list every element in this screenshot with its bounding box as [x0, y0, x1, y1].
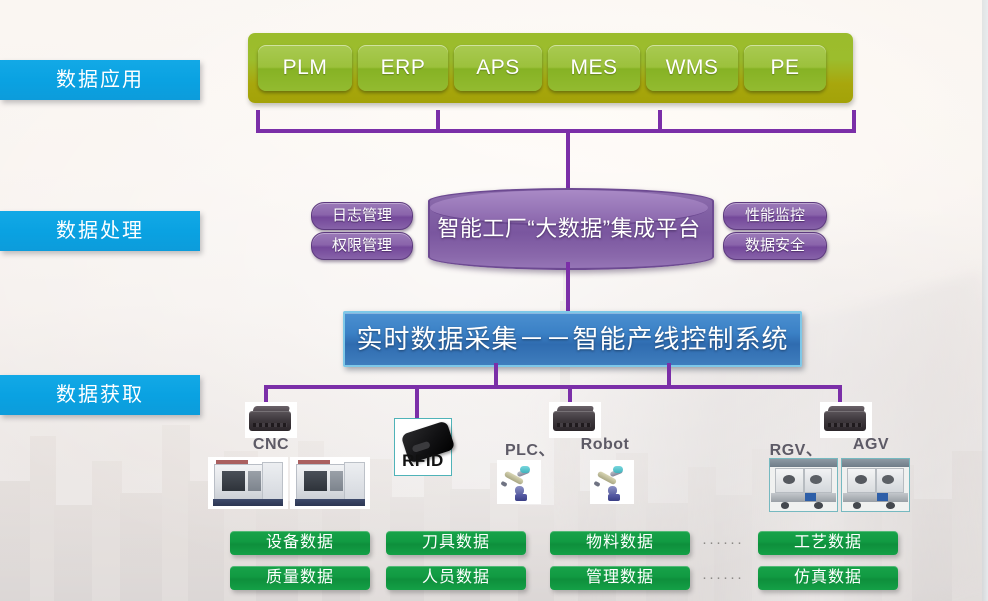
- connector-up-3: [658, 110, 662, 132]
- app-box-label: MES: [570, 56, 617, 79]
- cnc-machine-thumbnail-2: [290, 457, 370, 509]
- data-box-label: 物料数据: [586, 534, 654, 551]
- app-box-label: APS: [476, 56, 520, 79]
- data-box-label: 仿真数据: [794, 569, 862, 586]
- stage-label-data-processing[interactable]: 数据处理: [0, 211, 200, 251]
- data-box-label: 刀具数据: [422, 534, 490, 551]
- app-box-wms[interactable]: WMS: [646, 45, 738, 91]
- data-box-simulation[interactable]: 仿真数据: [758, 566, 898, 590]
- ellipsis-row-1: ······: [696, 531, 750, 555]
- stage-label-data-acquisition[interactable]: 数据获取: [0, 375, 200, 415]
- data-box-tooling[interactable]: 刀具数据: [386, 531, 526, 555]
- cnc-controller-thumbnail: [245, 402, 297, 438]
- device-label-plc: PLC、: [495, 436, 565, 460]
- device-label-rgv: RGV、: [761, 436, 831, 460]
- data-box-label: 设备数据: [266, 534, 334, 551]
- robot-arm-thumbnail-1: [497, 460, 541, 504]
- right-edge-shadow: [982, 0, 988, 601]
- connector-up-2: [436, 110, 440, 132]
- data-box-label: 人员数据: [422, 569, 490, 586]
- data-box-management[interactable]: 管理数据: [550, 566, 690, 590]
- cnc-machine-thumbnail-1: [208, 457, 288, 509]
- device-label-rfid: RFID: [395, 451, 451, 471]
- agv-thumbnail-1: [769, 458, 838, 512]
- app-box-erp[interactable]: ERP: [358, 45, 448, 91]
- platform-title: 智能工厂“大数据”集成平台: [428, 214, 710, 243]
- device-label-robot: Robot: [570, 436, 640, 454]
- control-system-bar[interactable]: 实时数据采集－－智能产线控制系统: [343, 311, 802, 367]
- pill-label: 数据安全: [745, 237, 805, 254]
- data-box-personnel[interactable]: 人员数据: [386, 566, 526, 590]
- agv-thumbnail-2: [841, 458, 910, 512]
- app-box-plm[interactable]: PLM: [258, 45, 352, 91]
- connector-up-1: [256, 110, 260, 132]
- app-box-label: PLM: [283, 56, 328, 79]
- data-box-quality[interactable]: 质量数据: [230, 566, 370, 590]
- app-box-label: ERP: [381, 56, 426, 79]
- data-box-equipment[interactable]: 设备数据: [230, 531, 370, 555]
- plc-controller-thumbnail: [549, 402, 601, 438]
- connector-up-4: [852, 110, 856, 132]
- connector-device-drop-rfid: [415, 385, 419, 419]
- app-box-aps[interactable]: APS: [454, 45, 542, 91]
- stage-label-text: 数据获取: [56, 384, 144, 406]
- rgv-controller-thumbnail: [820, 402, 872, 438]
- slide-canvas: 数据应用 数据处理 数据获取 PLM ERP APS MES WMS PE: [0, 0, 988, 601]
- pill-performance-monitoring[interactable]: 性能监控: [723, 202, 827, 230]
- connector-control-drop-left: [494, 363, 498, 387]
- bigdata-platform-cylinder[interactable]: 智能工厂“大数据”集成平台: [428, 188, 710, 266]
- app-box-label: WMS: [666, 56, 719, 79]
- robot-arm-thumbnail-2: [590, 460, 634, 504]
- data-box-label: 工艺数据: [794, 534, 862, 551]
- data-box-label: 管理数据: [586, 569, 654, 586]
- rfid-card: RFID: [394, 418, 452, 476]
- pill-permission-management[interactable]: 权限管理: [311, 232, 413, 260]
- device-label-cnc: CNC: [236, 436, 306, 454]
- controller-icon: [245, 402, 297, 438]
- pill-label: 性能监控: [745, 207, 805, 224]
- stage-label-text: 数据处理: [56, 220, 144, 242]
- stage-label-text: 数据应用: [56, 69, 144, 91]
- connector-bus-top: [256, 129, 856, 133]
- pill-label: 日志管理: [332, 207, 392, 224]
- data-box-label: 质量数据: [266, 569, 334, 586]
- data-box-process[interactable]: 工艺数据: [758, 531, 898, 555]
- connector-bus-bottom: [264, 385, 842, 389]
- app-box-mes[interactable]: MES: [548, 45, 640, 91]
- controller-icon: [820, 402, 872, 438]
- control-system-label: 实时数据采集－－智能产线控制系统: [356, 324, 788, 354]
- stage-label-data-application[interactable]: 数据应用: [0, 60, 200, 100]
- connector-control-drop-right: [667, 363, 671, 387]
- device-label-agv: AGV: [836, 436, 906, 454]
- controller-icon: [549, 402, 601, 438]
- application-layer-band: PLM ERP APS MES WMS PE: [248, 33, 853, 103]
- app-box-label: PE: [770, 56, 799, 79]
- pill-data-security[interactable]: 数据安全: [723, 232, 827, 260]
- connector-platform-to-control: [566, 262, 570, 314]
- ellipsis-row-2: ······: [696, 566, 750, 590]
- app-box-pe[interactable]: PE: [744, 45, 826, 91]
- pill-label: 权限管理: [332, 237, 392, 254]
- data-box-material[interactable]: 物料数据: [550, 531, 690, 555]
- pill-log-management[interactable]: 日志管理: [311, 202, 413, 230]
